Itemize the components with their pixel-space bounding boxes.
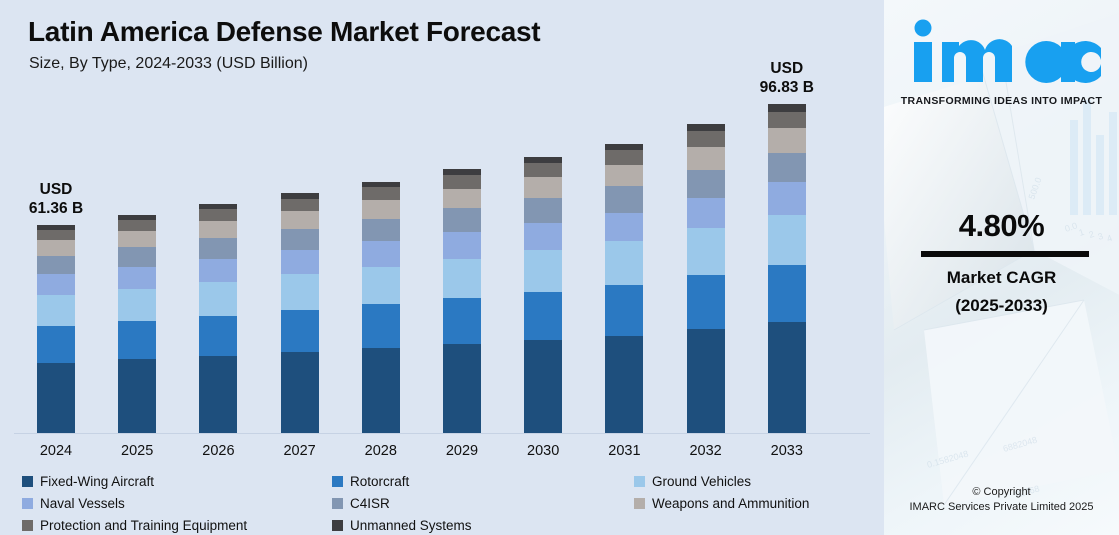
legend-label: C4ISR	[350, 496, 390, 511]
logo-tagline: TRANSFORMING IDEAS INTO IMPACT	[884, 95, 1119, 107]
bar-segment-protection-and-training-equipment[interactable]	[118, 220, 156, 231]
bar-2025[interactable]	[118, 215, 156, 433]
chart-legend: Fixed-Wing AircraftRotorcraftGround Vehi…	[22, 474, 872, 532]
bar-segment-weapons-and-ammunition[interactable]	[362, 200, 400, 219]
x-axis-tick-2025: 2025	[97, 443, 177, 459]
cagr-period: (2025-2033)	[884, 296, 1119, 316]
imarc-logo: TRANSFORMING IDEAS INTO IMPACT	[884, 16, 1119, 107]
x-axis-tick-2028: 2028	[341, 443, 421, 459]
bar-value-label-prefix: USD	[732, 59, 842, 78]
bar-segment-protection-and-training-equipment[interactable]	[524, 163, 562, 177]
copyright-notice: © Copyright IMARC Services Private Limit…	[884, 485, 1119, 515]
bar-2024[interactable]	[37, 225, 75, 433]
legend-item-unmanned-systems[interactable]: Unmanned Systems	[332, 518, 472, 533]
bar-segment-fixed-wing-aircraft[interactable]	[524, 340, 562, 433]
legend-label: Ground Vehicles	[652, 474, 751, 489]
bar-segment-c4isr[interactable]	[768, 153, 806, 183]
bar-segment-fixed-wing-aircraft[interactable]	[281, 352, 319, 433]
imarc-logo-mark	[902, 16, 1102, 88]
bar-segment-weapons-and-ammunition[interactable]	[37, 240, 75, 256]
bar-segment-weapons-and-ammunition[interactable]	[443, 189, 481, 209]
bar-segment-protection-and-training-equipment[interactable]	[37, 230, 75, 241]
bar-segment-c4isr[interactable]	[687, 170, 725, 198]
svg-text:6882048: 6882048	[1002, 435, 1038, 454]
bar-segment-c4isr[interactable]	[199, 238, 237, 259]
cagr-value: 4.80%	[884, 208, 1119, 244]
bar-segment-protection-and-training-equipment[interactable]	[199, 209, 237, 221]
bar-value-label-amount: 96.83 B	[732, 78, 842, 97]
legend-label: Protection and Training Equipment	[40, 518, 247, 533]
bar-segment-c4isr[interactable]	[524, 198, 562, 223]
legend-item-weapons-and-ammunition[interactable]: Weapons and Ammunition	[634, 496, 809, 511]
bar-2027[interactable]	[281, 193, 319, 433]
bar-segment-ground-vehicles[interactable]	[37, 295, 75, 326]
page-subtitle: Size, By Type, 2024-2033 (USD Billion)	[29, 55, 308, 73]
bar-segment-rotorcraft[interactable]	[768, 265, 806, 322]
bar-segment-fixed-wing-aircraft[interactable]	[37, 363, 75, 433]
bar-segment-c4isr[interactable]	[443, 208, 481, 232]
bar-value-label-amount: 61.36 B	[1, 199, 111, 218]
bar-segment-rotorcraft[interactable]	[199, 316, 237, 356]
bar-segment-protection-and-training-equipment[interactable]	[605, 150, 643, 165]
x-axis-tick-2026: 2026	[178, 443, 258, 459]
brand-panel: 0.0 1 2 3 4 0.1582048 6882048 92768 500.…	[884, 0, 1119, 535]
svg-text:0.1582048: 0.1582048	[926, 449, 970, 470]
bar-segment-rotorcraft[interactable]	[281, 310, 319, 352]
bar-segment-rotorcraft[interactable]	[443, 298, 481, 344]
bar-segment-naval-vessels[interactable]	[37, 274, 75, 295]
bar-segment-c4isr[interactable]	[37, 256, 75, 275]
cagr-divider	[921, 251, 1089, 257]
bar-2031[interactable]	[605, 144, 643, 433]
bar-segment-rotorcraft[interactable]	[37, 326, 75, 362]
bar-segment-ground-vehicles[interactable]	[362, 267, 400, 305]
legend-item-c4isr[interactable]: C4ISR	[332, 496, 390, 511]
bar-segment-ground-vehicles[interactable]	[524, 250, 562, 291]
bar-segment-naval-vessels[interactable]	[199, 259, 237, 282]
bar-segment-naval-vessels[interactable]	[524, 223, 562, 251]
bar-segment-c4isr[interactable]	[118, 247, 156, 267]
legend-label: Naval Vessels	[40, 496, 125, 511]
x-axis-tick-2032: 2032	[666, 443, 746, 459]
legend-swatch-icon	[22, 476, 33, 487]
legend-label: Rotorcraft	[350, 474, 409, 489]
cagr-label: Market CAGR	[884, 268, 1119, 288]
legend-label: Fixed-Wing Aircraft	[40, 474, 154, 489]
bar-segment-weapons-and-ammunition[interactable]	[605, 165, 643, 187]
bar-value-label-prefix: USD	[1, 180, 111, 199]
bar-segment-ground-vehicles[interactable]	[768, 215, 806, 264]
bar-segment-ground-vehicles[interactable]	[687, 228, 725, 274]
bar-2026[interactable]	[199, 204, 237, 433]
chart-panel: Latin America Defense Market Forecast Si…	[0, 0, 884, 535]
bar-segment-naval-vessels[interactable]	[443, 232, 481, 259]
plot-area	[0, 86, 884, 434]
bar-2028[interactable]	[362, 182, 400, 433]
bar-segment-protection-and-training-equipment[interactable]	[443, 175, 481, 188]
bar-segment-weapons-and-ammunition[interactable]	[118, 231, 156, 247]
legend-item-naval-vessels[interactable]: Naval Vessels	[22, 496, 125, 511]
bar-segment-c4isr[interactable]	[281, 229, 319, 251]
bar-segment-ground-vehicles[interactable]	[443, 259, 481, 298]
copyright-line-1: © Copyright	[884, 485, 1119, 500]
bar-2033[interactable]	[768, 104, 806, 433]
bar-segment-naval-vessels[interactable]	[605, 213, 643, 242]
x-axis-tick-2031: 2031	[584, 443, 664, 459]
bar-segment-c4isr[interactable]	[605, 186, 643, 212]
bar-segment-rotorcraft[interactable]	[687, 275, 725, 329]
bar-segment-protection-and-training-equipment[interactable]	[362, 187, 400, 200]
bar-segment-naval-vessels[interactable]	[687, 198, 725, 229]
bar-segment-ground-vehicles[interactable]	[281, 274, 319, 310]
legend-label: Unmanned Systems	[350, 518, 472, 533]
bar-segment-protection-and-training-equipment[interactable]	[768, 112, 806, 128]
bar-segment-ground-vehicles[interactable]	[199, 282, 237, 316]
x-axis-tick-2029: 2029	[422, 443, 502, 459]
bar-segment-weapons-and-ammunition[interactable]	[199, 221, 237, 238]
bar-segment-rotorcraft[interactable]	[605, 285, 643, 336]
legend-swatch-icon	[332, 520, 343, 531]
legend-swatch-icon	[22, 520, 33, 531]
bar-segment-ground-vehicles[interactable]	[118, 289, 156, 322]
bar-segment-naval-vessels[interactable]	[118, 267, 156, 289]
bar-segment-fixed-wing-aircraft[interactable]	[768, 322, 806, 433]
bar-segment-protection-and-training-equipment[interactable]	[281, 199, 319, 211]
bar-segment-protection-and-training-equipment[interactable]	[687, 131, 725, 147]
bar-segment-rotorcraft[interactable]	[362, 304, 400, 348]
legend-swatch-icon	[634, 498, 645, 509]
bar-value-label-2024: USD61.36 B	[1, 180, 111, 218]
legend-swatch-icon	[634, 476, 645, 487]
legend-item-rotorcraft[interactable]: Rotorcraft	[332, 474, 409, 489]
bar-segment-fixed-wing-aircraft[interactable]	[118, 359, 156, 433]
page-title: Latin America Defense Market Forecast	[28, 16, 540, 48]
legend-swatch-icon	[22, 498, 33, 509]
bar-segment-rotorcraft[interactable]	[118, 321, 156, 359]
bar-2032[interactable]	[687, 124, 725, 433]
bar-segment-naval-vessels[interactable]	[281, 250, 319, 274]
bar-segment-weapons-and-ammunition[interactable]	[768, 128, 806, 153]
legend-label: Weapons and Ammunition	[652, 496, 809, 511]
bar-value-label-2033: USD96.83 B	[732, 59, 842, 97]
bar-segment-unmanned-systems[interactable]	[768, 104, 806, 112]
infographic-root: Latin America Defense Market Forecast Si…	[0, 0, 1119, 535]
bar-segment-rotorcraft[interactable]	[524, 292, 562, 340]
x-axis-tick-2024: 2024	[16, 443, 96, 459]
legend-swatch-icon	[332, 476, 343, 487]
bar-segment-unmanned-systems[interactable]	[687, 124, 725, 131]
bar-2029[interactable]	[443, 169, 481, 433]
axis-baseline	[14, 433, 870, 434]
bar-segment-fixed-wing-aircraft[interactable]	[199, 356, 237, 433]
bar-segment-fixed-wing-aircraft[interactable]	[443, 344, 481, 433]
bar-segment-weapons-and-ammunition[interactable]	[281, 211, 319, 229]
svg-text:500.0: 500.0	[1026, 176, 1043, 201]
x-axis-tick-2027: 2027	[260, 443, 340, 459]
bar-segment-fixed-wing-aircraft[interactable]	[362, 348, 400, 433]
legend-item-ground-vehicles[interactable]: Ground Vehicles	[634, 474, 751, 489]
bar-segment-c4isr[interactable]	[362, 219, 400, 242]
legend-item-protection-and-training-equipment[interactable]: Protection and Training Equipment	[22, 518, 247, 533]
bar-segment-weapons-and-ammunition[interactable]	[524, 177, 562, 198]
bar-2030[interactable]	[524, 157, 562, 433]
bar-segment-fixed-wing-aircraft[interactable]	[687, 329, 725, 433]
bar-segment-ground-vehicles[interactable]	[605, 241, 643, 284]
copyright-line-2: IMARC Services Private Limited 2025	[884, 500, 1119, 515]
x-axis-tick-2033: 2033	[747, 443, 827, 459]
bar-segment-fixed-wing-aircraft[interactable]	[605, 336, 643, 434]
legend-item-fixed-wing-aircraft[interactable]: Fixed-Wing Aircraft	[22, 474, 154, 489]
bar-segment-naval-vessels[interactable]	[768, 182, 806, 215]
bar-segment-naval-vessels[interactable]	[362, 241, 400, 266]
legend-swatch-icon	[332, 498, 343, 509]
x-axis-tick-2030: 2030	[503, 443, 583, 459]
bar-segment-weapons-and-ammunition[interactable]	[687, 147, 725, 170]
